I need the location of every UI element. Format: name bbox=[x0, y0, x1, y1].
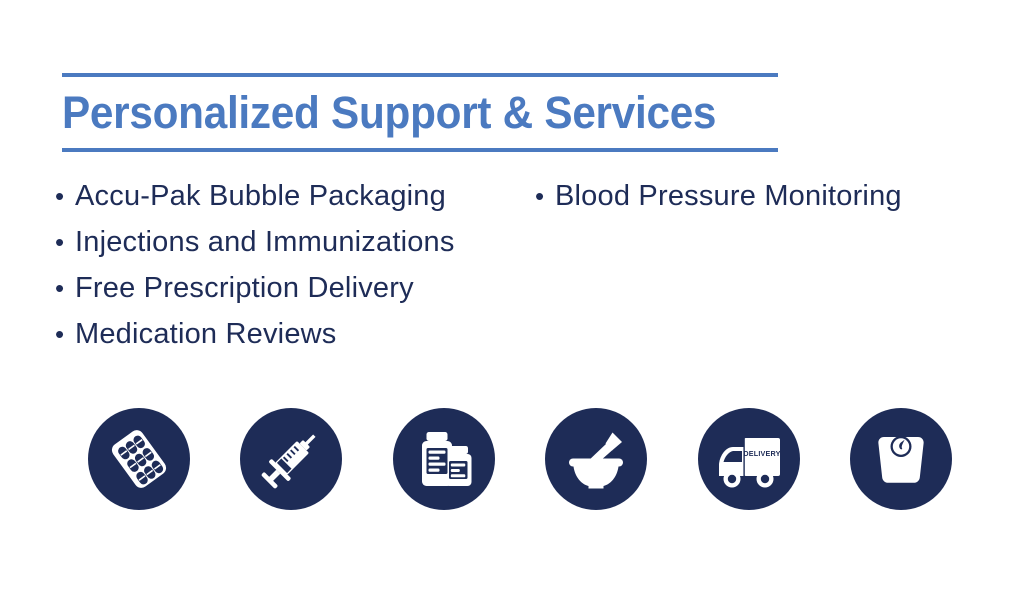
icon-circle-mortar-pestle bbox=[545, 408, 647, 510]
truck-delivery-text: DELIVERY bbox=[743, 449, 780, 458]
mortar-pestle-icon bbox=[560, 423, 632, 495]
bullet-icon: • bbox=[535, 178, 555, 214]
icon-circle-pill-bottles bbox=[393, 408, 495, 510]
icon-circle-delivery-truck: DELIVERY bbox=[698, 408, 800, 510]
page-title-block: Personalized Support & Services bbox=[62, 73, 778, 152]
bullet-icon: • bbox=[55, 270, 75, 306]
list-item: • Blood Pressure Monitoring bbox=[535, 178, 902, 224]
delivery-truck-icon: DELIVERY bbox=[711, 421, 787, 497]
service-label: Medication Reviews bbox=[75, 316, 337, 352]
page-title: Personalized Support & Services bbox=[62, 77, 735, 148]
service-label: Free Prescription Delivery bbox=[75, 270, 414, 306]
list-item: • Accu-Pak Bubble Packaging bbox=[55, 178, 455, 224]
services-list: • Accu-Pak Bubble Packaging • Injections… bbox=[0, 178, 1025, 368]
list-item: • Medication Reviews bbox=[55, 316, 455, 362]
icon-circle-blister-pack bbox=[88, 408, 190, 510]
service-label: Injections and Immunizations bbox=[75, 224, 455, 260]
service-label: Blood Pressure Monitoring bbox=[555, 178, 902, 214]
services-column-left: • Accu-Pak Bubble Packaging • Injections… bbox=[55, 178, 455, 362]
title-rule-bottom bbox=[62, 148, 778, 152]
weight-scale-icon bbox=[866, 424, 936, 494]
syringe-icon bbox=[255, 423, 327, 495]
icon-row: DELIVERY bbox=[88, 408, 952, 510]
bullet-icon: • bbox=[55, 178, 75, 214]
pill-bottles-icon bbox=[409, 424, 479, 494]
list-item: • Injections and Immunizations bbox=[55, 224, 455, 270]
services-column-right: • Blood Pressure Monitoring bbox=[535, 178, 902, 224]
blister-pack-icon bbox=[104, 424, 174, 494]
service-label: Accu-Pak Bubble Packaging bbox=[75, 178, 446, 214]
list-item: • Free Prescription Delivery bbox=[55, 270, 455, 316]
bullet-icon: • bbox=[55, 224, 75, 260]
bullet-icon: • bbox=[55, 316, 75, 352]
icon-circle-weight-scale bbox=[850, 408, 952, 510]
icon-circle-syringe bbox=[240, 408, 342, 510]
